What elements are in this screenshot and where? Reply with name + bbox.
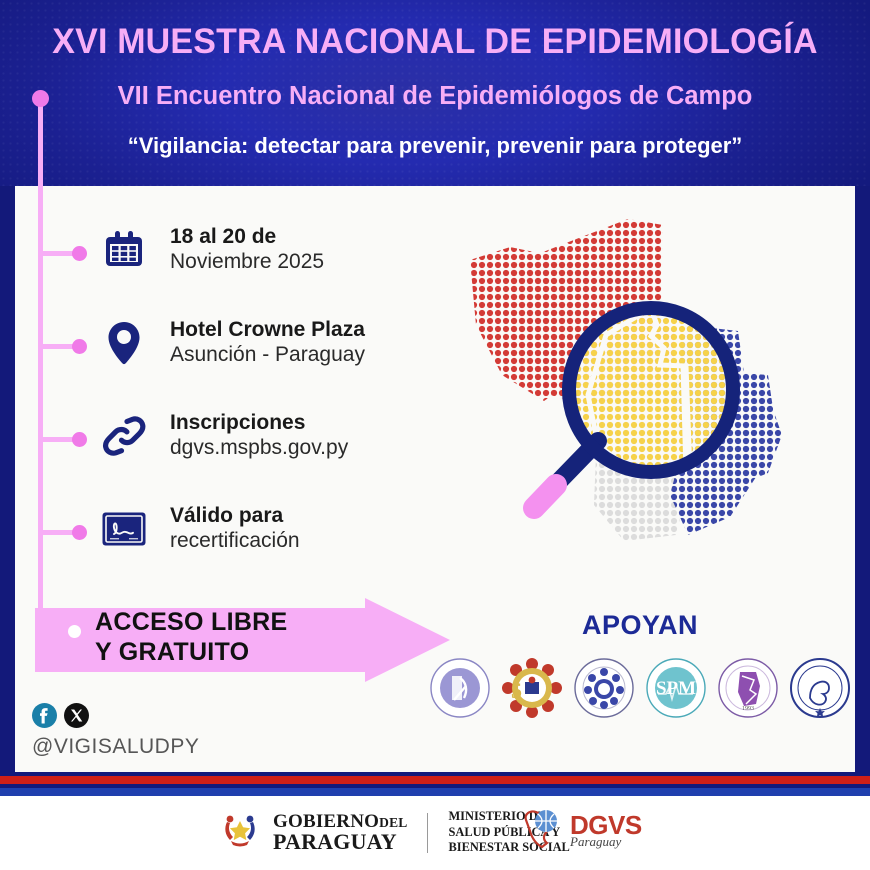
dgvs-logo: DGVS Paraguay (520, 806, 642, 855)
poster-slogan: “Vigilancia: detectar para prevenir, pre… (0, 133, 870, 159)
facebook-icon[interactable] (32, 703, 57, 733)
certificate-line-2: recertificación (170, 529, 300, 554)
gobierno-del: DEL (379, 815, 407, 830)
sponsor-logos: 5 SPM (430, 652, 850, 724)
social-icons (32, 703, 199, 733)
timeline-node-2 (72, 339, 87, 354)
sociedad-paraguaya-de-infectologia-logo: 1993 (718, 658, 778, 718)
timeline-start-dot (32, 90, 49, 107)
footer-divider (427, 813, 428, 853)
info-item-certificate: Válido para recertificación (100, 504, 300, 554)
free-access-line-1: ACCESO LIBRE (95, 608, 395, 638)
social-block: @VIGISALUDPY (32, 703, 199, 759)
svg-text:SPM: SPM (656, 678, 696, 699)
date-line-1: 18 al 20 de (170, 225, 324, 250)
timeline-node-4 (72, 525, 87, 540)
svg-text:5: 5 (511, 678, 522, 703)
footer-blue-stripe (0, 788, 870, 796)
footer-red-stripe (0, 776, 870, 784)
link-icon (100, 412, 148, 460)
calendar-icon (100, 226, 148, 274)
timeline-end-dot (68, 625, 81, 638)
certificate-line-1: Válido para (170, 504, 300, 529)
event-poster: XVI MUESTRA NACIONAL DE EPIDEMIOLOGÍA VI… (0, 0, 870, 870)
location-pin-icon (100, 319, 148, 367)
gobierno-line-2: PARAGUAY (273, 831, 407, 853)
info-item-venue: Hotel Crowne Plaza Asunción - Paraguay (100, 318, 365, 368)
info-item-registration[interactable]: Inscripciones dgvs.mspbs.gov.py (100, 411, 348, 461)
gobierno-paraguay-logo: GOBIERNODEL PARAGUAY MINISTERIO DE SALUD… (218, 808, 570, 857)
timeline-node-3 (72, 432, 87, 447)
info-item-date: 18 al 20 de Noviembre 2025 (100, 225, 324, 275)
certificate-icon (100, 505, 148, 553)
timeline-stem (38, 96, 43, 634)
free-access-line-2: Y GRATUITO (95, 638, 395, 668)
sociedad-paraguaya-de-pediatria-logo (574, 658, 634, 718)
sociedad-paraguaya-de-reumatologia-logo (790, 658, 850, 718)
sociedad-paraguaya-de-nutricion-logo (430, 658, 490, 718)
date-line-2: Noviembre 2025 (170, 250, 324, 275)
svg-text:1993: 1993 (742, 706, 754, 712)
x-twitter-icon[interactable] (64, 703, 89, 733)
dgvs-globe-map-icon (520, 806, 566, 855)
gobierno-wordmark: GOBIERNODEL PARAGUAY (273, 812, 407, 853)
dgvs-wordmark: DGVS Paraguay (570, 812, 642, 850)
venue-name: Hotel Crowne Plaza (170, 318, 365, 343)
registration-label: Inscripciones (170, 411, 348, 436)
paraguay-dotted-map-graphic (438, 205, 838, 575)
registration-url[interactable]: dgvs.mspbs.gov.py (170, 436, 348, 461)
timeline-node-1 (72, 246, 87, 261)
social-handle: @VIGISALUDPY (32, 735, 199, 759)
sociedad-50-aniversario-logo: 5 (502, 658, 562, 718)
poster-subtitle: VII Encuentro Nacional de Epidemiólogos … (0, 82, 870, 111)
poster-header: XVI MUESTRA NACIONAL DE EPIDEMIOLOGÍA VI… (0, 0, 870, 186)
gobierno-crest-icon (218, 808, 262, 857)
sponsors-title: APOYAN (440, 610, 840, 641)
spmi-sociedad-paraguaya-medicina-interna-logo: SPM (646, 658, 706, 718)
free-access-text: ACCESO LIBRE Y GRATUITO (95, 608, 395, 667)
page-title: XVI MUESTRA NACIONAL DE EPIDEMIOLOGÍA (13, 22, 857, 62)
venue-city: Asunción - Paraguay (170, 343, 365, 368)
